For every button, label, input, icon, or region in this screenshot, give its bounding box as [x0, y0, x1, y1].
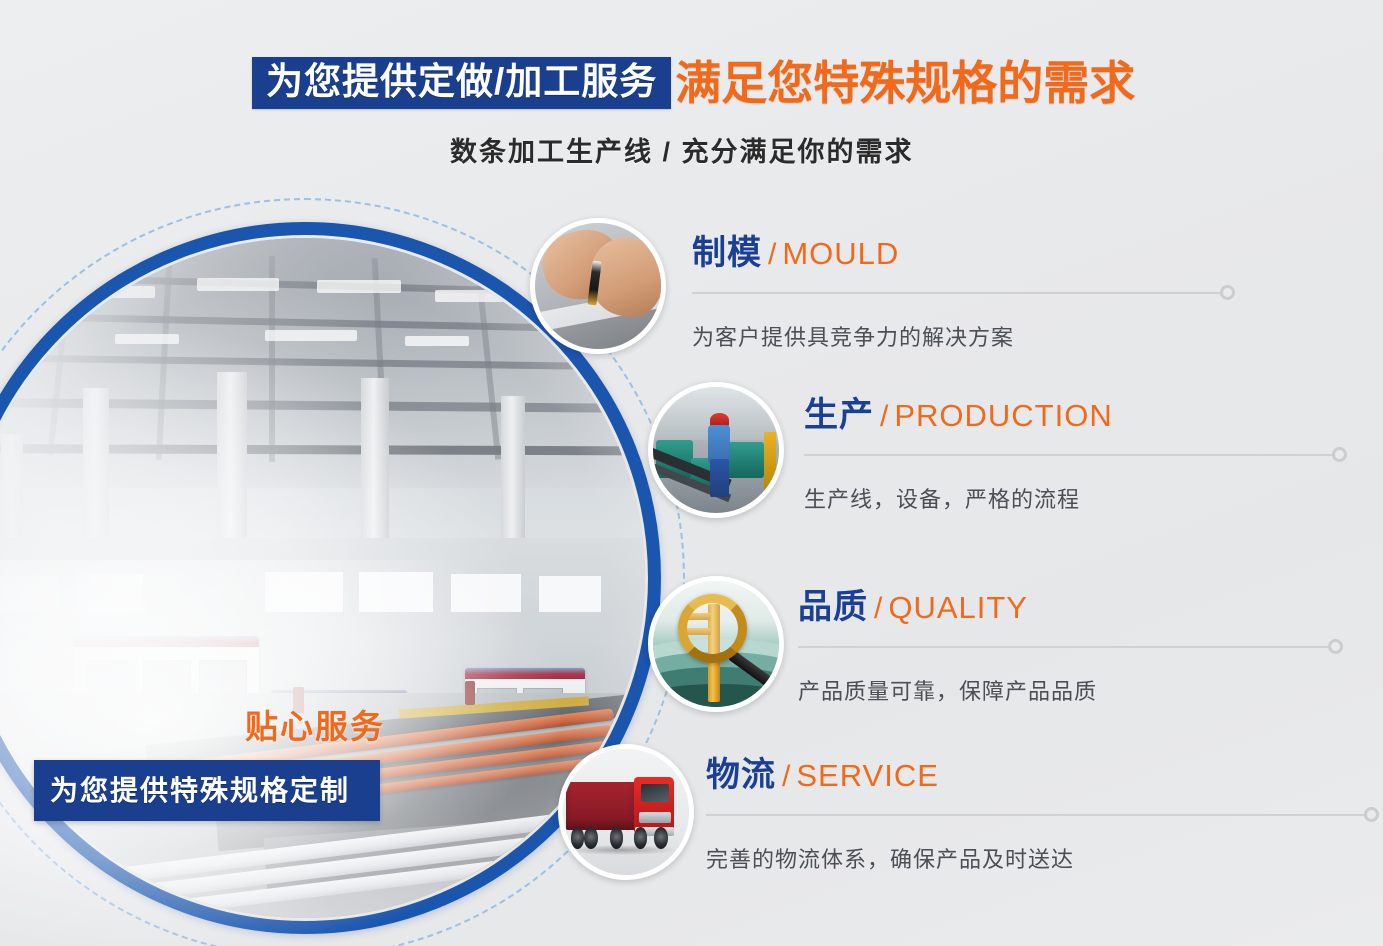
quality-magnifier-icon: [648, 576, 784, 712]
feature-rule-endpoint: [1364, 807, 1379, 822]
banner-header: 为您提供定做/加工服务 满足您特殊规格的需求 数条加工生产线 / 充分满足你的需…: [0, 0, 1383, 190]
feature-title-en: SERVICE: [796, 758, 939, 793]
feature-title-cn: 品质: [798, 588, 868, 626]
feature-title: 生产/PRODUCTION: [804, 398, 1383, 432]
feature-rule: [798, 646, 1330, 648]
title-badge: 为您提供定做/加工服务: [252, 57, 671, 109]
feature-item-mould[interactable]: 制模/MOULD 为客户提供具竞争力的解决方案: [530, 218, 1380, 358]
feature-item-service[interactable]: 物流/SERVICE 完善的物流体系，确保产品及时送达: [558, 744, 1383, 884]
feature-description: 完善的物流体系，确保产品及时送达: [706, 842, 1383, 874]
feature-separator: /: [768, 238, 776, 271]
feature-rule: [804, 454, 1334, 456]
service-truck-icon: [558, 744, 694, 880]
feature-item-production[interactable]: 生产/PRODUCTION 生产线，设备，严格的流程: [648, 382, 1383, 522]
feature-description: 生产线，设备，严格的流程: [804, 482, 1383, 514]
feature-rule: [692, 292, 1222, 294]
feature-rule: [706, 814, 1366, 816]
service-caption: 贴心服务 为您提供特殊规格定制: [30, 700, 450, 821]
feature-title: 物流/SERVICE: [706, 758, 1383, 792]
feature-rule-endpoint: [1332, 447, 1347, 462]
banner-subtitle: 数条加工生产线 / 充分满足你的需求: [450, 130, 914, 169]
feature-title: 品质/QUALITY: [798, 590, 1383, 624]
feature-title-en: PRODUCTION: [894, 398, 1112, 433]
feature-separator: /: [782, 760, 790, 793]
feature-separator: /: [874, 592, 882, 625]
caption-heading: 贴心服务: [150, 700, 480, 748]
title-row: 为您提供定做/加工服务 满足您特殊规格的需求: [252, 57, 1135, 109]
feature-rule-endpoint: [1328, 639, 1343, 654]
caption-bar: 为您提供特殊规格定制: [34, 760, 380, 821]
feature-item-quality[interactable]: 品质/QUALITY 产品质量可靠，保障产品品质: [648, 576, 1383, 716]
feature-rule-endpoint: [1220, 285, 1235, 300]
mould-scribe-icon: [530, 218, 666, 354]
feature-title-en: QUALITY: [888, 590, 1028, 625]
feature-title-cn: 制模: [692, 234, 762, 272]
production-worker-icon: [648, 382, 784, 518]
title-highlight: 满足您特殊规格的需求: [675, 60, 1135, 106]
feature-description: 产品质量可靠，保障产品品质: [798, 674, 1383, 706]
promo-banner: 为您提供定做/加工服务 满足您特殊规格的需求 数条加工生产线 / 充分满足你的需…: [0, 0, 1383, 946]
feature-title-en: MOULD: [782, 236, 899, 271]
feature-description: 为客户提供具竞争力的解决方案: [692, 320, 1382, 352]
feature-title-cn: 物流: [706, 756, 776, 794]
feature-title-cn: 生产: [804, 396, 874, 434]
feature-title: 制模/MOULD: [692, 236, 1382, 270]
feature-separator: /: [880, 400, 888, 433]
